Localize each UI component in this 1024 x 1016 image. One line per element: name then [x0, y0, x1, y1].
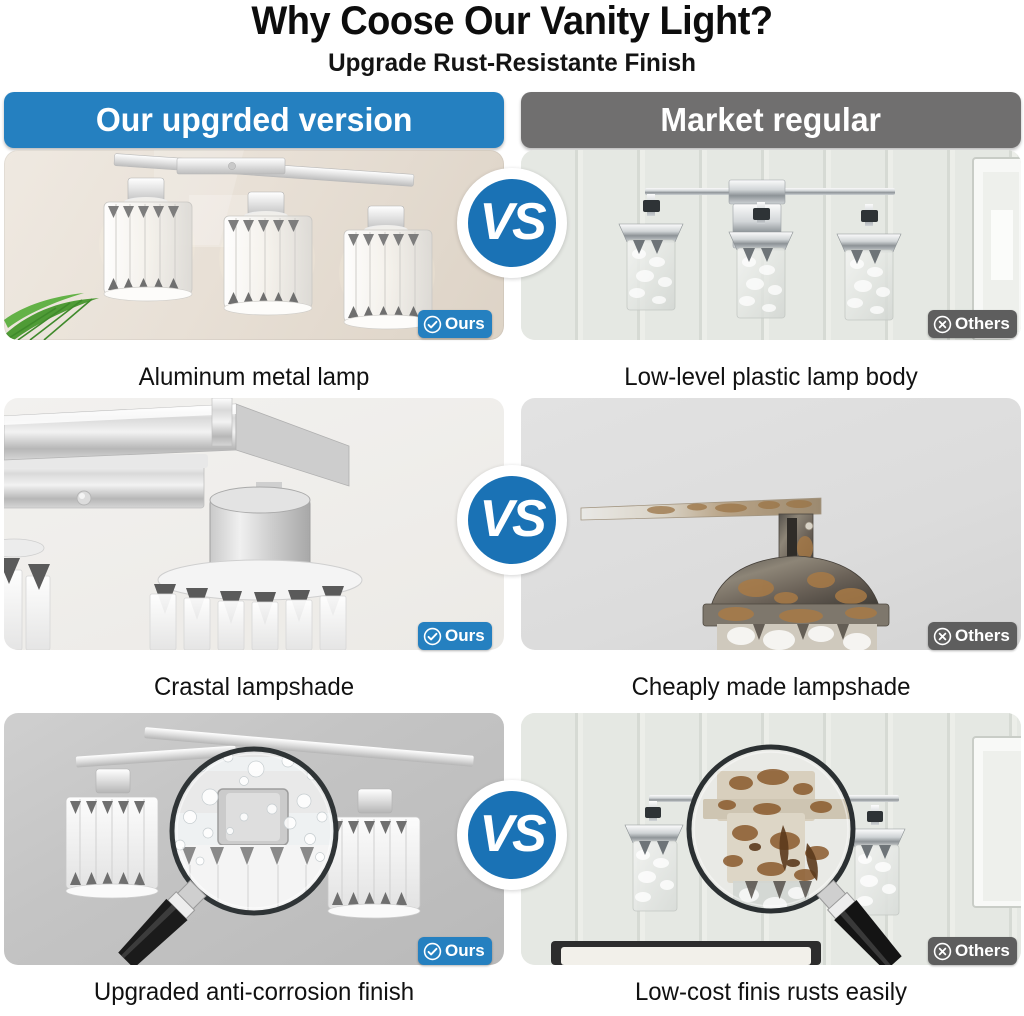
vs-badge-row3: VS — [457, 780, 567, 890]
caption-row1-ours: Aluminum metal lamp — [14, 360, 494, 394]
badge-ours-row3: Ours — [418, 937, 492, 965]
photo-row3-ours-image — [4, 713, 504, 965]
page-subtitle: Upgrade Rust-Resistante Finish — [15, 48, 1008, 78]
banner-market-regular-label: Market regular — [661, 101, 882, 139]
comparison-infographic: Why Coose Our Vanity Light? Upgrade Rust… — [0, 0, 1024, 1016]
vs-badge-label: VS — [479, 489, 544, 549]
photo-row3-others — [521, 713, 1021, 965]
banner-our-version-label: Our upgrded version — [96, 101, 413, 139]
vs-badge-label: VS — [479, 804, 544, 864]
photo-row3-others-image — [521, 713, 1021, 965]
badge-others-row3: Others — [928, 937, 1017, 965]
rusted-lamp-closeup-illustration — [521, 398, 1021, 650]
caption-row2-others: Cheaply made lampshade — [531, 670, 1011, 704]
vs-badge-circle: VS — [468, 791, 556, 879]
badge-ours-label: Ours — [445, 314, 485, 334]
photo-row3-ours — [4, 713, 504, 965]
badge-others-label: Others — [955, 314, 1010, 334]
check-circle-icon — [423, 315, 442, 334]
photo-row2-others — [521, 398, 1021, 650]
badge-ours-row2: Ours — [418, 622, 492, 650]
vs-badge-row1: VS — [457, 168, 567, 278]
photo-row2-ours-image — [4, 398, 504, 650]
vs-badge-circle: VS — [468, 179, 556, 267]
badge-ours-label: Ours — [445, 941, 485, 961]
aluminum-closeup-illustration — [4, 398, 504, 650]
badge-ours-row1: Ours — [418, 310, 492, 338]
caption-row1-others: Low-level plastic lamp body — [531, 360, 1011, 394]
banner-market-regular: Market regular — [521, 92, 1021, 148]
photo-row2-ours — [4, 398, 504, 650]
caption-row3-others: Low-cost finis rusts easily — [531, 975, 1011, 1009]
badge-others-row2: Others — [928, 622, 1017, 650]
vs-badge-label: VS — [479, 192, 544, 252]
caption-row2-ours: Crastal lampshade — [14, 670, 494, 704]
check-circle-icon — [423, 942, 442, 961]
waterdrop-magnifier-illustration — [4, 713, 504, 965]
badge-ours-label: Ours — [445, 626, 485, 646]
badge-others-label: Others — [955, 941, 1010, 961]
badge-others-label: Others — [955, 626, 1010, 646]
photo-row2-others-image — [521, 398, 1021, 650]
x-circle-icon — [933, 942, 952, 961]
x-circle-icon — [933, 627, 952, 646]
page-title: Why Coose Our Vanity Light? — [26, 0, 999, 44]
check-circle-icon — [423, 627, 442, 646]
rust-magnifier-illustration — [521, 713, 1021, 965]
badge-others-row1: Others — [928, 310, 1017, 338]
vs-badge-circle: VS — [468, 476, 556, 564]
caption-row3-ours: Upgraded anti-corrosion finish — [14, 975, 494, 1009]
vs-badge-row2: VS — [457, 465, 567, 575]
banner-our-version: Our upgrded version — [4, 92, 504, 148]
x-circle-icon — [933, 315, 952, 334]
